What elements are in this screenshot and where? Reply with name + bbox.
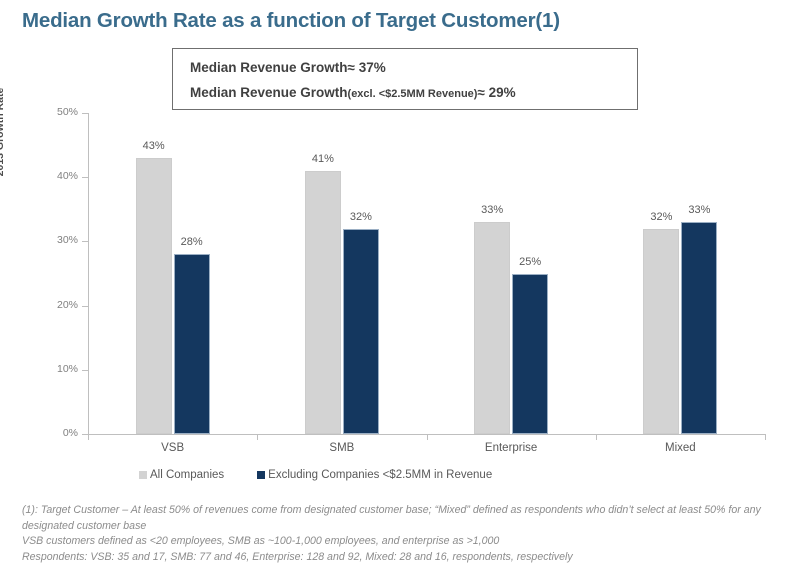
footnote-line-1: (1): Target Customer – At least 50% of r… [22,503,782,534]
y-axis-title: 2013 Growth Rate [0,42,6,222]
callout-line-2-value: ≈ 29% [477,85,515,100]
legend-label: All Companies [150,469,224,481]
y-axis-tick-mark [82,177,88,178]
callout-line-1: Median Revenue Growth≈ 37% [190,60,386,75]
x-axis-category-mixed: Mixed [620,442,740,454]
bar-value-label: 43% [126,140,182,152]
legend-swatch-icon [139,471,147,479]
legend-label: Excluding Companies <$2.5MM in Revenue [268,469,492,481]
x-axis-separator [596,434,597,440]
page-title: Median Growth Rate as a function of Targ… [22,9,560,33]
legend-item-excluding-companies[interactable]: Excluding Companies <$2.5MM in Revenue [257,469,492,481]
y-axis-tick-mark [82,370,88,371]
bar-enterprise-all[interactable] [474,222,510,434]
callout-line-1-value: ≈ 37% [348,60,386,75]
footnote-line-2: VSB customers defined as <20 employees, … [22,534,782,550]
legend-swatch-icon [257,471,265,479]
bar-mixed-excluding[interactable] [681,222,717,434]
callout-line-2: Median Revenue Growth(excl. <$2.5MM Reve… [190,85,516,100]
x-axis-category-enterprise: Enterprise [451,442,571,454]
bar-vsb-all[interactable] [136,158,172,434]
callout-line-2-qualifier: (excl. <$2.5MM Revenue) [348,88,478,100]
slide-root: Median Growth Rate as a function of Targ… [0,0,792,575]
bar-enterprise-excluding[interactable] [512,274,548,435]
y-axis-tick-label: 20% [42,299,78,311]
y-axis-tick-mark [82,241,88,242]
x-axis-separator [765,434,766,440]
footnotes: (1): Target Customer – At least 50% of r… [22,503,782,565]
legend-item-all-companies[interactable]: All Companies [139,469,224,481]
y-axis-tick-label: 40% [42,170,78,182]
summary-callout-box: Median Revenue Growth≈ 37% Median Revenu… [172,48,638,110]
y-axis-line [88,113,89,435]
y-axis-tick-mark [82,113,88,114]
y-axis-tick-label: 0% [42,427,78,439]
bar-vsb-excluding[interactable] [174,254,210,434]
chart-legend: All CompaniesExcluding Companies <$2.5MM… [139,469,492,481]
bar-value-label: 32% [333,211,389,223]
bar-value-label: 33% [671,204,727,216]
y-axis-tick-label: 50% [42,106,78,118]
bar-smb-excluding[interactable] [343,229,379,434]
callout-line-2-text: Median Revenue Growth [190,85,348,100]
bar-value-label: 25% [502,256,558,268]
x-axis-separator [257,434,258,440]
x-axis-category-vsb: VSB [113,442,233,454]
y-axis-tick-label: 30% [42,234,78,246]
x-axis-separator [427,434,428,440]
y-axis-tick-mark [82,306,88,307]
bar-value-label: 28% [164,236,220,248]
bar-value-label: 33% [464,204,520,216]
y-axis-tick-label: 10% [42,363,78,375]
x-axis-category-smb: SMB [282,442,402,454]
x-axis-separator [88,434,89,440]
footnote-line-3: Respondents: VSB: 35 and 17, SMB: 77 and… [22,550,782,566]
bar-value-label: 41% [295,153,351,165]
bar-mixed-all[interactable] [643,229,679,434]
callout-line-1-text: Median Revenue Growth [190,60,348,75]
